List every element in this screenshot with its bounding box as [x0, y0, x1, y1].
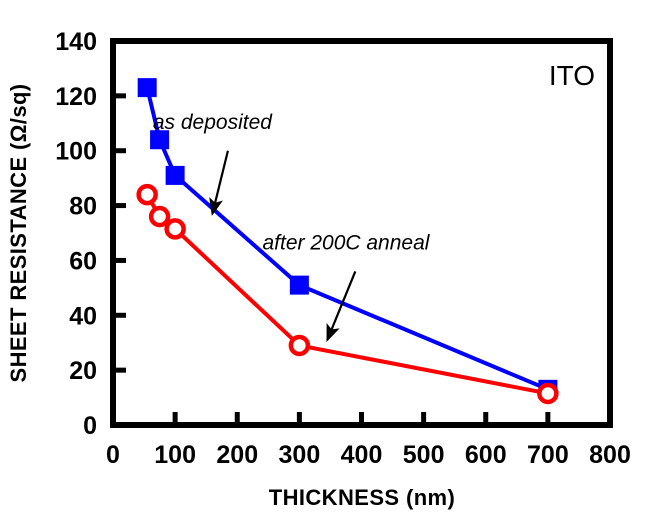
x-axis-title: THICKNESS (nm) — [269, 485, 456, 510]
data-point — [539, 385, 556, 402]
data-point — [166, 166, 184, 184]
y-tick-label: 20 — [69, 357, 97, 385]
y-axis-title: SHEET RESISTANCE (Ω/sq) — [6, 83, 31, 382]
chart-figure: 0100200300400500600700800 02040608010012… — [0, 0, 663, 529]
plot-corner-label: ITO — [549, 60, 595, 91]
data-point — [290, 276, 308, 294]
y-tick-label: 140 — [55, 28, 97, 56]
y-tick-label: 80 — [69, 193, 97, 221]
x-tick-label: 300 — [279, 441, 321, 469]
x-tick-label: 0 — [106, 441, 120, 469]
y-tick-label: 60 — [69, 247, 97, 275]
annotation-label: after 200C anneal — [262, 231, 430, 254]
sheet-resistance-vs-thickness-chart: 0100200300400500600700800 02040608010012… — [0, 0, 663, 529]
x-tick-label: 500 — [403, 441, 445, 469]
y-tick-label: 120 — [55, 83, 97, 111]
data-point — [139, 186, 156, 203]
data-point — [151, 208, 168, 225]
x-tick-label: 800 — [589, 441, 631, 469]
x-tick-label: 400 — [341, 441, 383, 469]
x-tick-label: 700 — [527, 441, 569, 469]
x-tick-label: 600 — [465, 441, 507, 469]
annotation-label: as deposited — [153, 111, 273, 134]
data-point — [167, 220, 184, 237]
x-tick-label: 200 — [216, 441, 258, 469]
y-tick-label: 40 — [69, 302, 97, 330]
x-axis-tick-labels: 0100200300400500600700800 — [106, 441, 631, 469]
x-tick-label: 100 — [154, 441, 196, 469]
y-tick-label: 100 — [55, 138, 97, 166]
data-point — [138, 79, 156, 97]
y-tick-label: 0 — [83, 412, 97, 440]
data-point — [291, 337, 308, 354]
